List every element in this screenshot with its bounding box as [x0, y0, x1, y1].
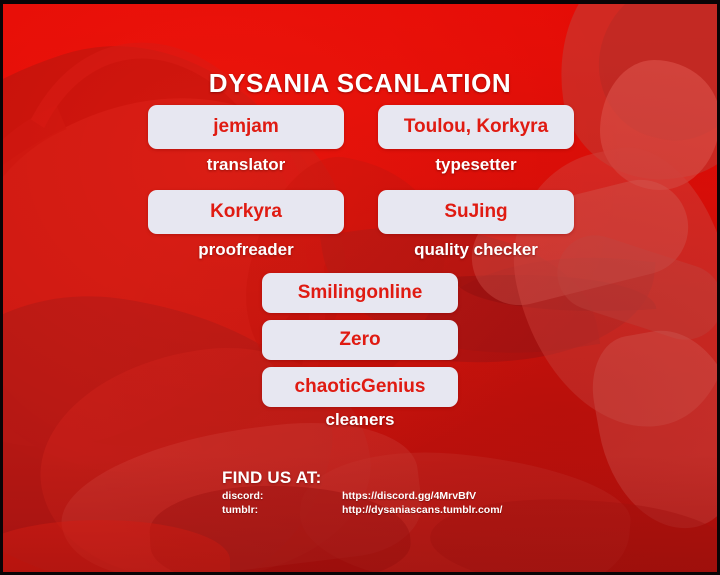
footer-link-discord[interactable]: https://discord.gg/4MrvBfV — [342, 490, 522, 504]
credit-box-quality-checker: SuJing — [378, 190, 574, 234]
credit-box-translator: jemjam — [148, 105, 344, 149]
credit-role-typesetter: typesetter — [378, 155, 574, 175]
credit-role-proofreader: proofreader — [148, 240, 344, 260]
page-title: DYSANIA SCANLATION — [0, 68, 720, 99]
credit-role-quality-checker: quality checker — [378, 240, 574, 260]
footer-link-tumblr[interactable]: http://dysaniascans.tumblr.com/ — [342, 504, 522, 518]
credit-box-cleaner-1: Smilingonline — [262, 273, 458, 313]
footer-label-tumblr: tumblr: — [222, 504, 342, 518]
footer-label-discord: discord: — [222, 490, 342, 504]
footer-title: FIND US AT: — [222, 468, 522, 488]
credit-box-cleaner-3: chaoticGenius — [262, 367, 458, 407]
credit-role-translator: translator — [148, 155, 344, 175]
footer-contact-block: FIND US AT: discord: https://discord.gg/… — [222, 468, 522, 518]
scanlation-credits-page: DYSANIA SCANLATION jemjam translator Tou… — [0, 0, 720, 575]
credit-box-proofreader: Korkyra — [148, 190, 344, 234]
credits-content: DYSANIA SCANLATION jemjam translator Tou… — [0, 0, 720, 575]
credit-role-cleaners: cleaners — [262, 410, 458, 430]
footer-row-discord: discord: https://discord.gg/4MrvBfV — [222, 490, 522, 504]
credit-box-typesetter: Toulou, Korkyra — [378, 105, 574, 149]
credit-box-cleaner-2: Zero — [262, 320, 458, 360]
footer-row-tumblr: tumblr: http://dysaniascans.tumblr.com/ — [222, 504, 522, 518]
